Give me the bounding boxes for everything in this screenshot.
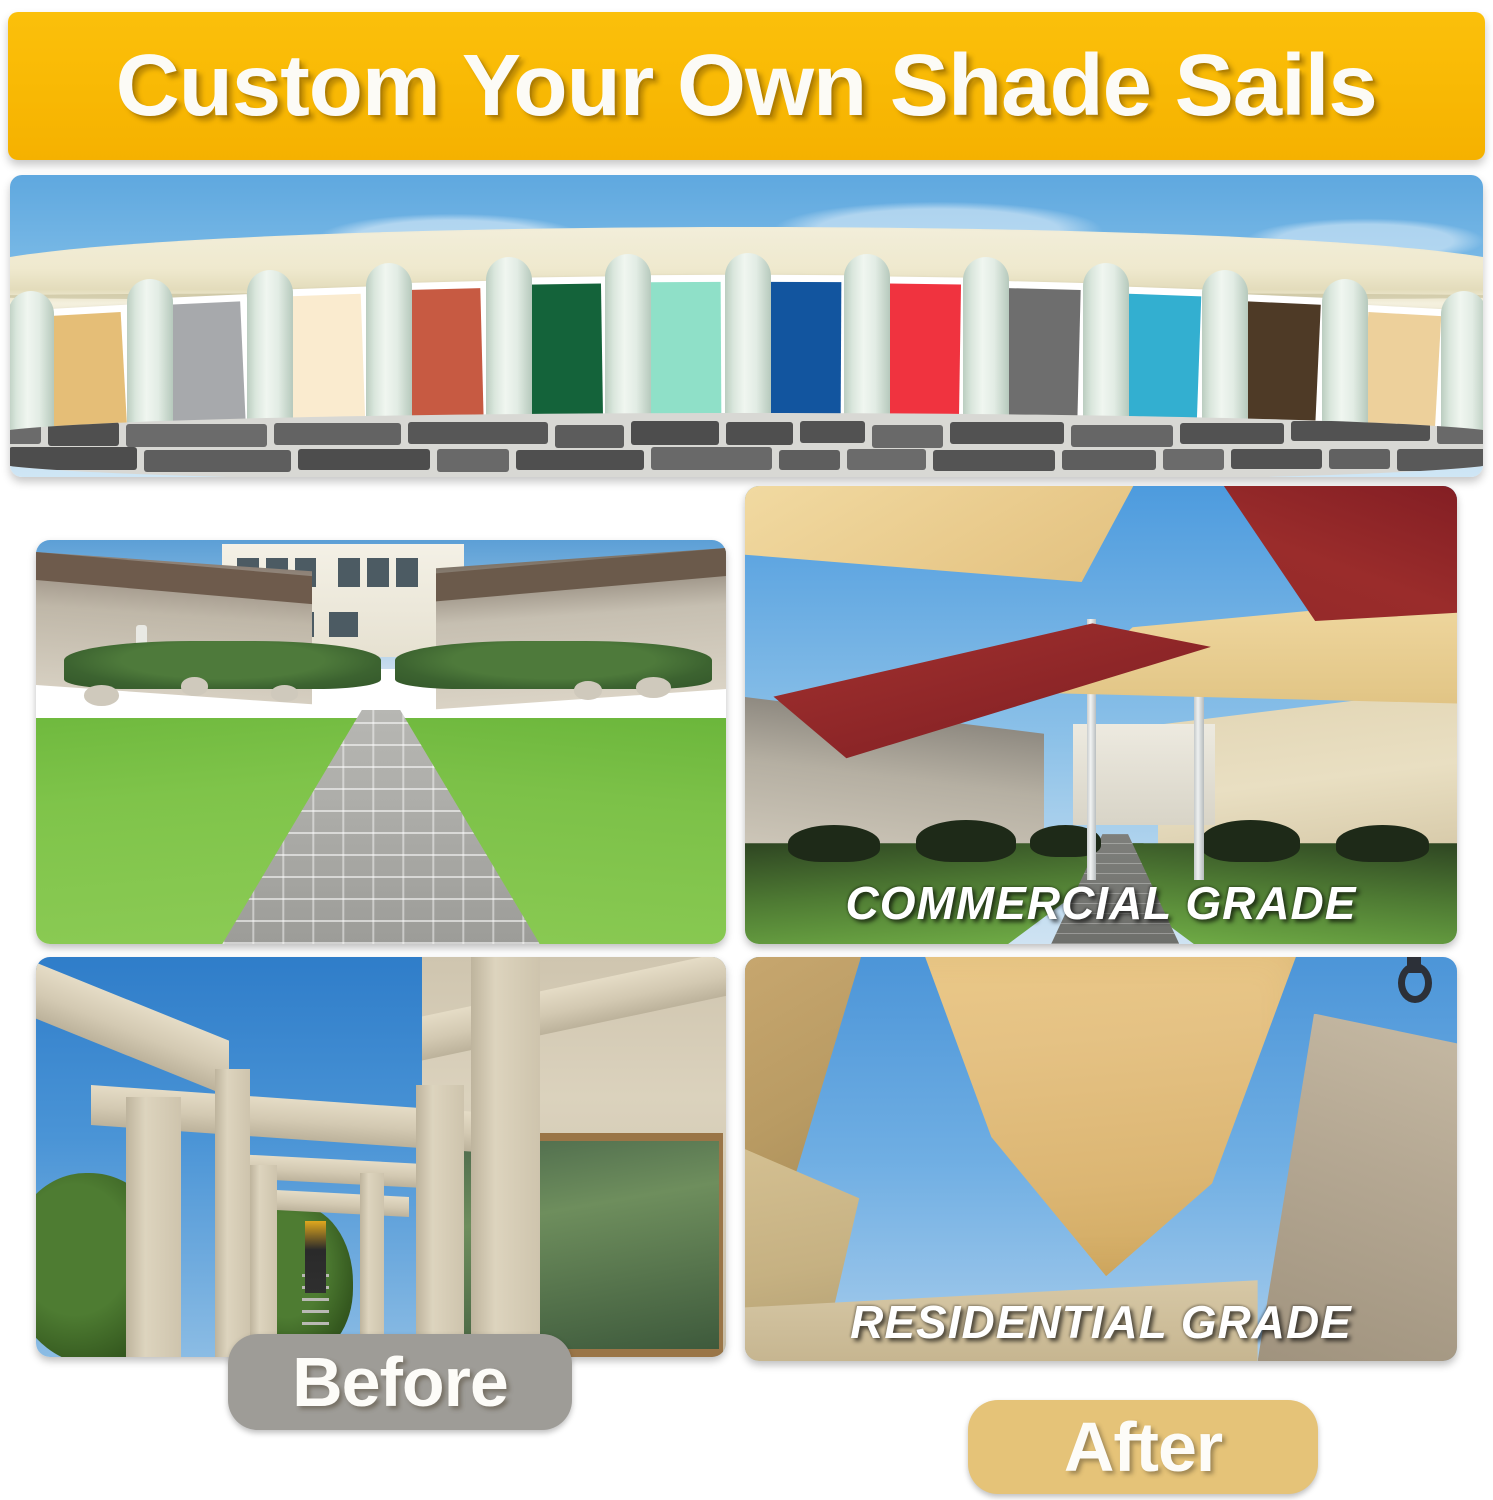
stone-block (726, 422, 793, 445)
stone-block (1071, 425, 1173, 447)
d-ring-icon (1398, 963, 1432, 1003)
stone-block (1163, 449, 1224, 470)
swatch-fill-wheat (1361, 312, 1441, 433)
residential-shade-sail-scene: RESIDENTIAL GRADE (745, 957, 1457, 1361)
before-badge: Before (228, 1334, 572, 1430)
stone-block (1291, 421, 1430, 441)
column (1441, 291, 1483, 443)
color-swatch-light-grey[interactable] (160, 294, 254, 435)
color-swatch-dark-grey[interactable] (997, 281, 1088, 429)
stone-block (274, 423, 401, 445)
stone-block (631, 421, 719, 445)
stone-block (1180, 423, 1284, 444)
swatch-fill-terracotta (408, 288, 485, 422)
swatch-fill-turquoise (1123, 294, 1201, 425)
swatch-fill-sand (48, 312, 128, 433)
stone-block (555, 425, 624, 448)
column (10, 291, 54, 443)
swatch-fill-dark-grey (1005, 288, 1082, 422)
column (1322, 279, 1368, 443)
color-options-banner (10, 175, 1483, 477)
color-swatch-dark-green[interactable] (521, 277, 611, 427)
commercial-shade-sail-scene: COMMERCIAL GRADE (745, 486, 1457, 944)
color-swatch-terracotta[interactable] (400, 281, 491, 429)
swatch-fill-dark-green (528, 284, 603, 420)
color-swatch-brown[interactable] (1235, 294, 1329, 435)
photo-before-courtyard (36, 540, 726, 944)
stone-block (800, 421, 865, 443)
color-swatch-red[interactable] (879, 277, 969, 427)
header-banner: Custom Your Own Shade Sails (8, 12, 1485, 160)
stone-block (933, 450, 1055, 471)
pergola-scene (36, 957, 726, 1357)
stone-block (298, 449, 430, 470)
stone-block (1231, 449, 1322, 469)
stone-base (10, 413, 1483, 477)
stone-block (950, 422, 1064, 444)
stone-block (516, 450, 644, 470)
swatch-fill-light-grey (168, 302, 247, 429)
swatch-fill-brown (1242, 302, 1321, 429)
stone-block (1397, 449, 1483, 471)
stone-block (10, 424, 41, 444)
before-badge-label: Before (292, 1342, 508, 1422)
color-swatch-ivory-cream[interactable] (280, 286, 372, 432)
stone-block (10, 447, 137, 470)
page-title: Custom Your Own Shade Sails (116, 36, 1377, 136)
color-swatch-royal-blue[interactable] (760, 275, 848, 425)
stone-block (437, 449, 509, 472)
after-badge: After (968, 1400, 1318, 1494)
residential-grade-label: RESIDENTIAL GRADE (745, 1295, 1457, 1349)
stone-block (872, 425, 943, 448)
stone-block (1329, 449, 1390, 469)
stone-block (126, 424, 267, 447)
stone-block (408, 422, 548, 444)
swatch-fill-royal-blue (767, 282, 841, 418)
stone-block (847, 449, 926, 470)
photo-before-pergola (36, 957, 726, 1357)
swatch-fill-mint-green (648, 282, 722, 418)
stone-block (144, 450, 291, 472)
stone-block (651, 447, 772, 470)
commercial-grade-label: COMMERCIAL GRADE (745, 876, 1457, 930)
photo-residential-grade: RESIDENTIAL GRADE (745, 957, 1457, 1361)
swatch-fill-red (886, 284, 961, 420)
swatch-fill-ivory-cream (288, 294, 366, 425)
stone-block (1437, 423, 1483, 444)
color-swatch-mint-green[interactable] (641, 275, 729, 425)
column (127, 279, 173, 443)
photo-commercial-grade: COMMERCIAL GRADE (745, 486, 1457, 944)
after-badge-label: After (1064, 1407, 1222, 1487)
stone-block (1062, 450, 1156, 470)
stone-block (48, 422, 119, 446)
color-swatch-sand[interactable] (40, 305, 135, 441)
color-swatch-turquoise[interactable] (1116, 286, 1208, 432)
stone-block (779, 450, 840, 470)
worker (305, 1221, 326, 1293)
hedge-left (64, 641, 381, 689)
courtyard-scene (36, 540, 726, 944)
